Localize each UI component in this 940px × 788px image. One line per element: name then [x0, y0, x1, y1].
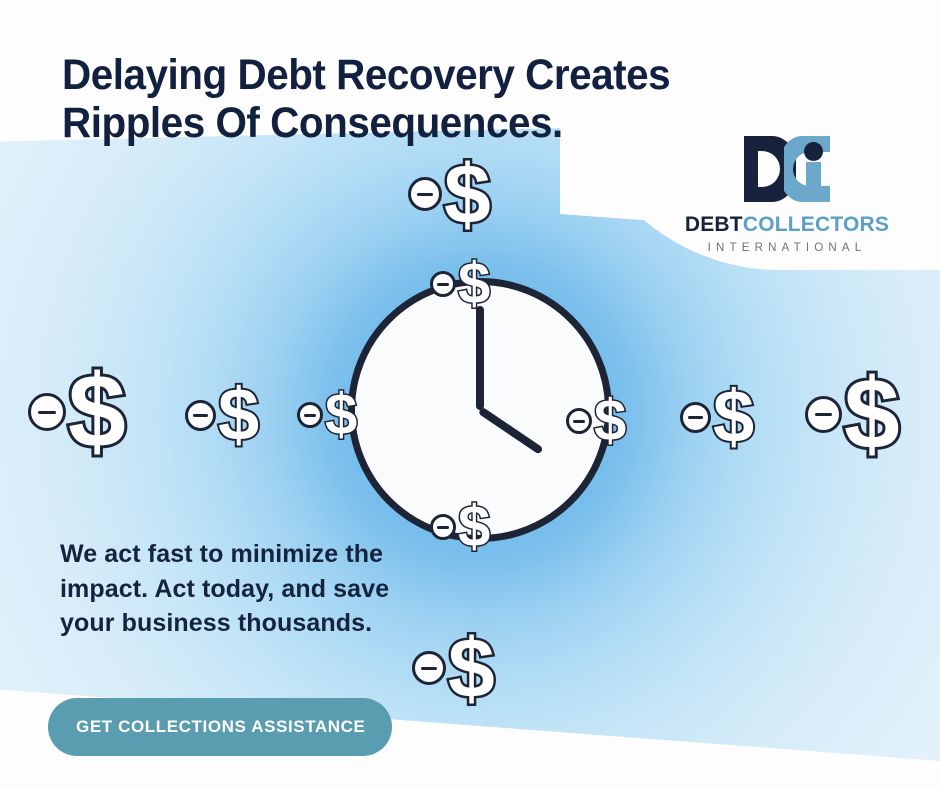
dollar-sign-icon: $	[594, 392, 626, 450]
minus-circle-icon	[430, 514, 456, 540]
dollar-sign-icon: $	[444, 152, 491, 236]
dollar-sign-icon: $	[713, 380, 754, 454]
clock-minute-hand	[476, 306, 484, 410]
minus-circle-icon	[28, 393, 66, 431]
dollar-sign-icon: $	[458, 498, 490, 556]
minus-circle-icon	[297, 402, 323, 428]
money-right-mid: $	[680, 380, 754, 454]
logo-wordmark: DEBTCOLLECTORS	[672, 214, 902, 235]
clock-hour-hand	[478, 407, 544, 455]
minus-circle-icon	[185, 400, 216, 431]
money-top-inner: $	[430, 255, 490, 313]
money-right-far: $	[805, 364, 900, 464]
get-collections-assistance-button[interactable]: GET COLLECTIONS ASSISTANCE	[48, 698, 392, 756]
logo-monogram-icon	[744, 136, 830, 202]
minus-circle-icon	[805, 396, 842, 433]
dollar-sign-icon: $	[844, 364, 900, 464]
logo-subtitle: INTERNATIONAL	[672, 242, 902, 254]
money-left-inner: $	[297, 386, 357, 444]
logo-letter-i-dot-icon	[804, 142, 823, 161]
money-left-mid: $	[185, 378, 259, 452]
logo-word-secondary: COLLECTORS	[743, 213, 889, 236]
body-copy: We act fast to minimize the impact. Act …	[60, 537, 390, 641]
dollar-sign-icon: $	[218, 378, 259, 452]
minus-circle-icon	[430, 271, 456, 297]
money-top-outer: $	[408, 152, 491, 236]
page-title: Delaying Debt Recovery Creates Ripples O…	[62, 51, 814, 147]
ad-canvas: Delaying Debt Recovery Creates Ripples O…	[0, 0, 940, 788]
money-left-far: $	[28, 360, 126, 464]
dollar-sign-icon: $	[68, 360, 126, 464]
money-right-inner: $	[566, 392, 626, 450]
minus-circle-icon	[680, 402, 711, 433]
minus-circle-icon	[566, 408, 592, 434]
logo-word-primary: DEBT	[685, 213, 743, 236]
minus-circle-icon	[408, 177, 442, 211]
minus-circle-icon	[412, 651, 446, 685]
money-bottom-inner: $	[430, 498, 490, 556]
dollar-sign-icon: $	[448, 626, 495, 710]
logo-letter-i-stem-icon	[806, 162, 821, 202]
headline-line-1: Delaying Debt Recovery Creates	[62, 51, 814, 99]
brand-logo[interactable]: DEBTCOLLECTORS INTERNATIONAL	[672, 136, 902, 254]
money-bottom-outer: $	[412, 626, 495, 710]
dollar-sign-icon: $	[325, 386, 357, 444]
dollar-sign-icon: $	[458, 255, 490, 313]
body-copy-line-1: We act fast to minimize	[60, 540, 338, 568]
body-copy-line-4: thousands.	[238, 609, 372, 637]
